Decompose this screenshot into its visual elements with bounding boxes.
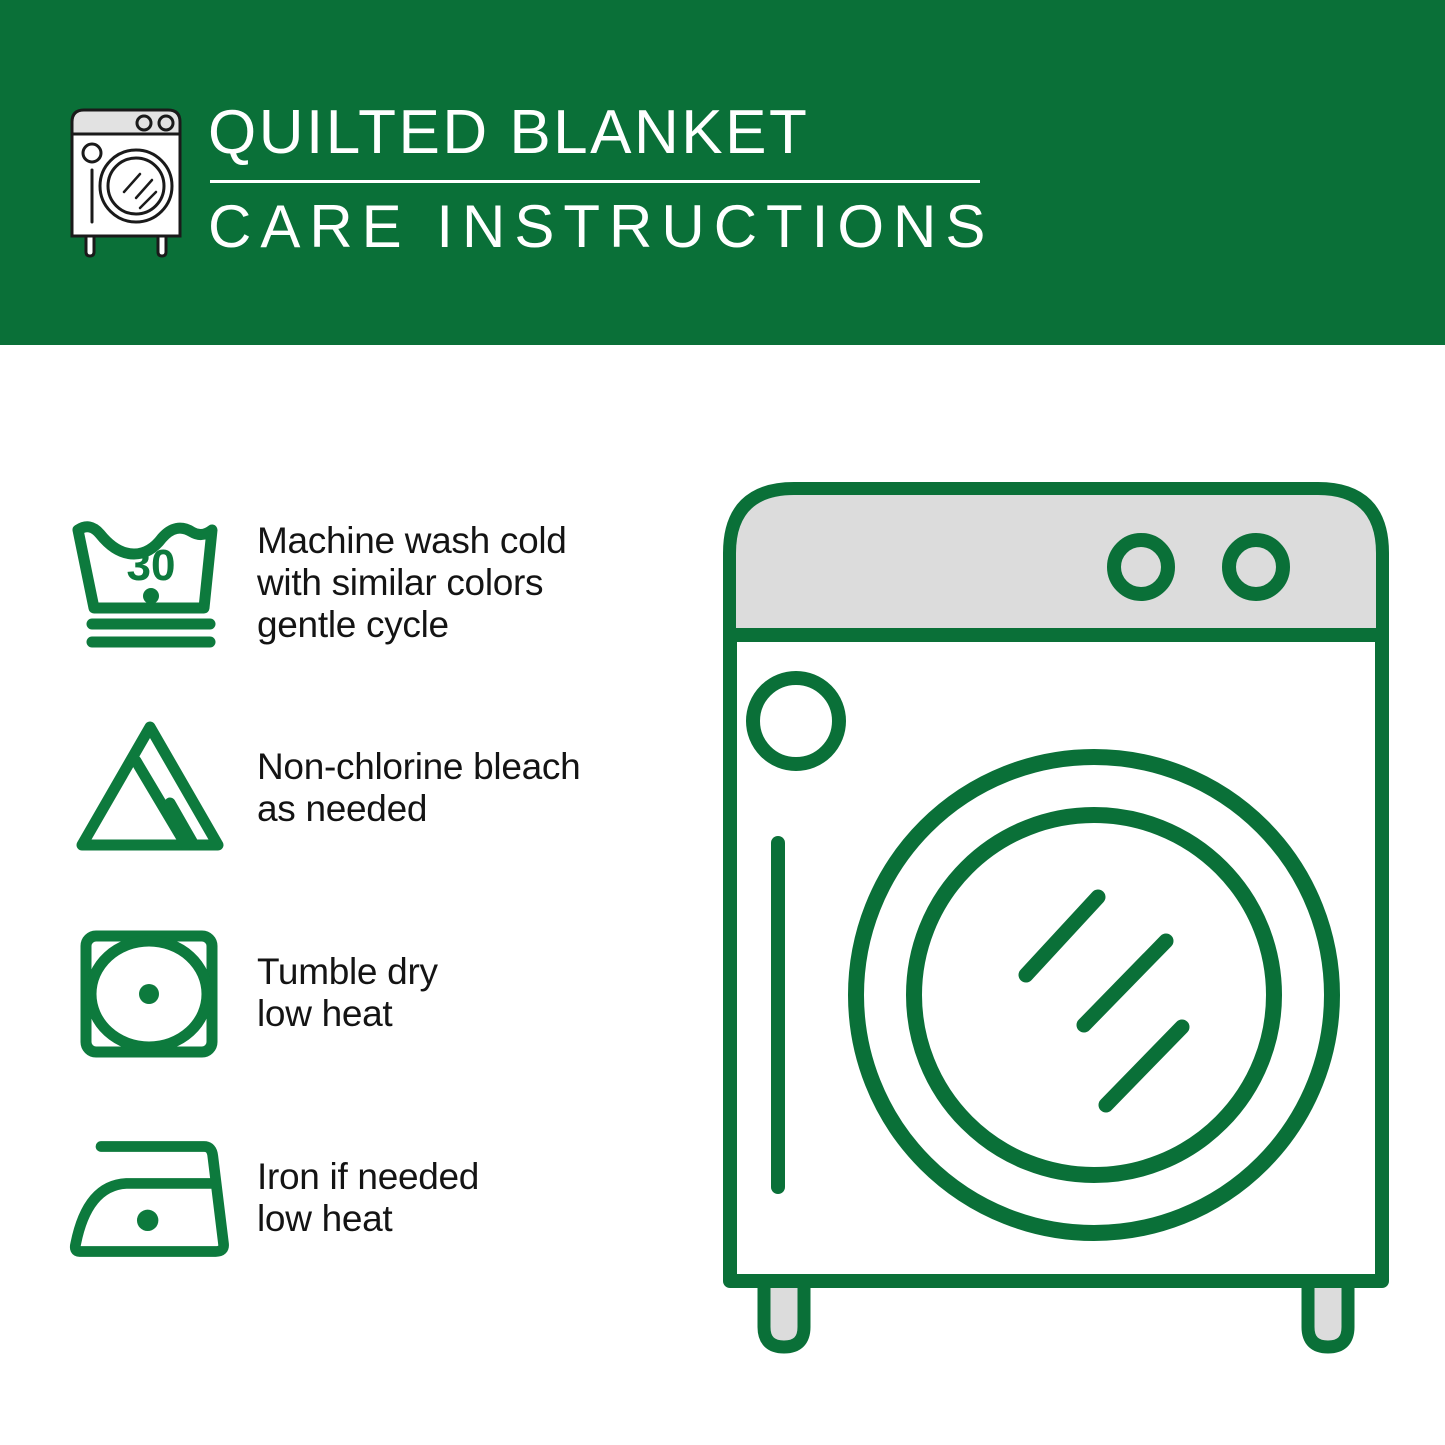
instruction-line: Machine wash cold xyxy=(257,520,567,562)
wash-temperature-value: 30 xyxy=(127,541,176,590)
list-item: 30 Machine wash cold with similar colors… xyxy=(66,480,686,685)
iron-low-heat-icon xyxy=(66,1123,241,1273)
instruction-line: as needed xyxy=(257,788,580,830)
washing-machine-icon xyxy=(66,104,186,259)
care-instructions-infographic: QUILTED BLANKET CARE INSTRUCTIONS 30 xyxy=(0,0,1445,1445)
title-divider xyxy=(210,180,980,183)
instruction-text: Non-chlorine bleach as needed xyxy=(257,746,580,830)
page-subtitle: CARE INSTRUCTIONS xyxy=(208,195,994,259)
header-title-group: QUILTED BLANKET CARE INSTRUCTIONS xyxy=(208,100,994,259)
instruction-line: gentle cycle xyxy=(257,604,567,646)
instruction-list: 30 Machine wash cold with similar colors… xyxy=(66,480,686,1300)
instruction-line: Iron if needed xyxy=(257,1156,479,1198)
front-load-washing-machine-illustration xyxy=(716,475,1396,1365)
instruction-line: with similar colors xyxy=(257,562,567,604)
header-banner: QUILTED BLANKET CARE INSTRUCTIONS xyxy=(0,0,1445,345)
instruction-text: Machine wash cold with similar colors ge… xyxy=(257,520,567,646)
instruction-line: Tumble dry xyxy=(257,951,438,993)
page-title: QUILTED BLANKET xyxy=(208,100,994,166)
list-item: Iron if needed low heat xyxy=(66,1095,686,1300)
list-item: Tumble dry low heat xyxy=(66,890,686,1095)
list-item: Non-chlorine bleach as needed xyxy=(66,685,686,890)
instruction-line: low heat xyxy=(257,993,438,1035)
wash-tub-30-gentle-icon: 30 xyxy=(66,508,241,658)
instruction-line: Non-chlorine bleach xyxy=(257,746,580,788)
instruction-text: Iron if needed low heat xyxy=(257,1156,479,1240)
non-chlorine-bleach-triangle-icon xyxy=(66,713,241,863)
header-content: QUILTED BLANKET CARE INSTRUCTIONS xyxy=(66,96,994,259)
instruction-text: Tumble dry low heat xyxy=(257,951,438,1035)
tumble-dry-low-icon xyxy=(66,918,241,1068)
instruction-line: low heat xyxy=(257,1198,479,1240)
